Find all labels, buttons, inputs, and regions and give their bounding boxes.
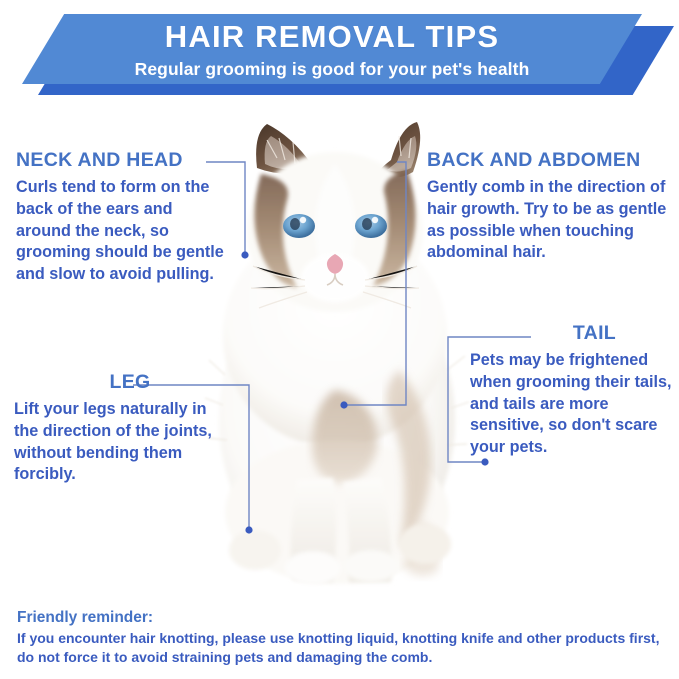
friendly-reminder: Friendly reminder: If you encounter hair… xyxy=(17,608,667,666)
page-subtitle: Regular grooming is good for your pet's … xyxy=(135,61,530,79)
header-banner: HAIR REMOVAL TIPS Regular grooming is go… xyxy=(0,0,679,100)
callout-body-neck: Curls tend to form on the back of the ea… xyxy=(16,177,231,285)
page-title: HAIR REMOVAL TIPS xyxy=(165,21,499,52)
callout-title-tail: TAIL xyxy=(470,323,678,343)
callout-neck-and-head: NECK AND HEAD Curls tend to form on the … xyxy=(16,150,231,285)
callout-body-tail: Pets may be frightened when grooming the… xyxy=(470,350,678,458)
reminder-body: If you encounter hair knotting, please u… xyxy=(17,629,667,666)
infographic-page: HAIR REMOVAL TIPS Regular grooming is go… xyxy=(0,0,679,679)
callout-tail: TAIL Pets may be frightened when groomin… xyxy=(470,323,678,458)
callout-leg: LEG Lift your legs naturally in the dire… xyxy=(14,372,229,486)
callout-body-leg: Lift your legs naturally in the directio… xyxy=(14,399,229,485)
callout-body-back: Gently comb in the direction of hair gro… xyxy=(427,177,677,263)
banner-text-group: HAIR REMOVAL TIPS Regular grooming is go… xyxy=(22,14,642,84)
callout-title-leg: LEG xyxy=(74,372,186,392)
callout-back-and-abdomen: BACK AND ABDOMEN Gently comb in the dire… xyxy=(427,150,677,264)
reminder-title: Friendly reminder: xyxy=(17,608,667,627)
cat-head xyxy=(247,152,423,312)
callout-title-neck: NECK AND HEAD xyxy=(16,150,231,170)
callout-title-back: BACK AND ABDOMEN xyxy=(427,150,677,170)
